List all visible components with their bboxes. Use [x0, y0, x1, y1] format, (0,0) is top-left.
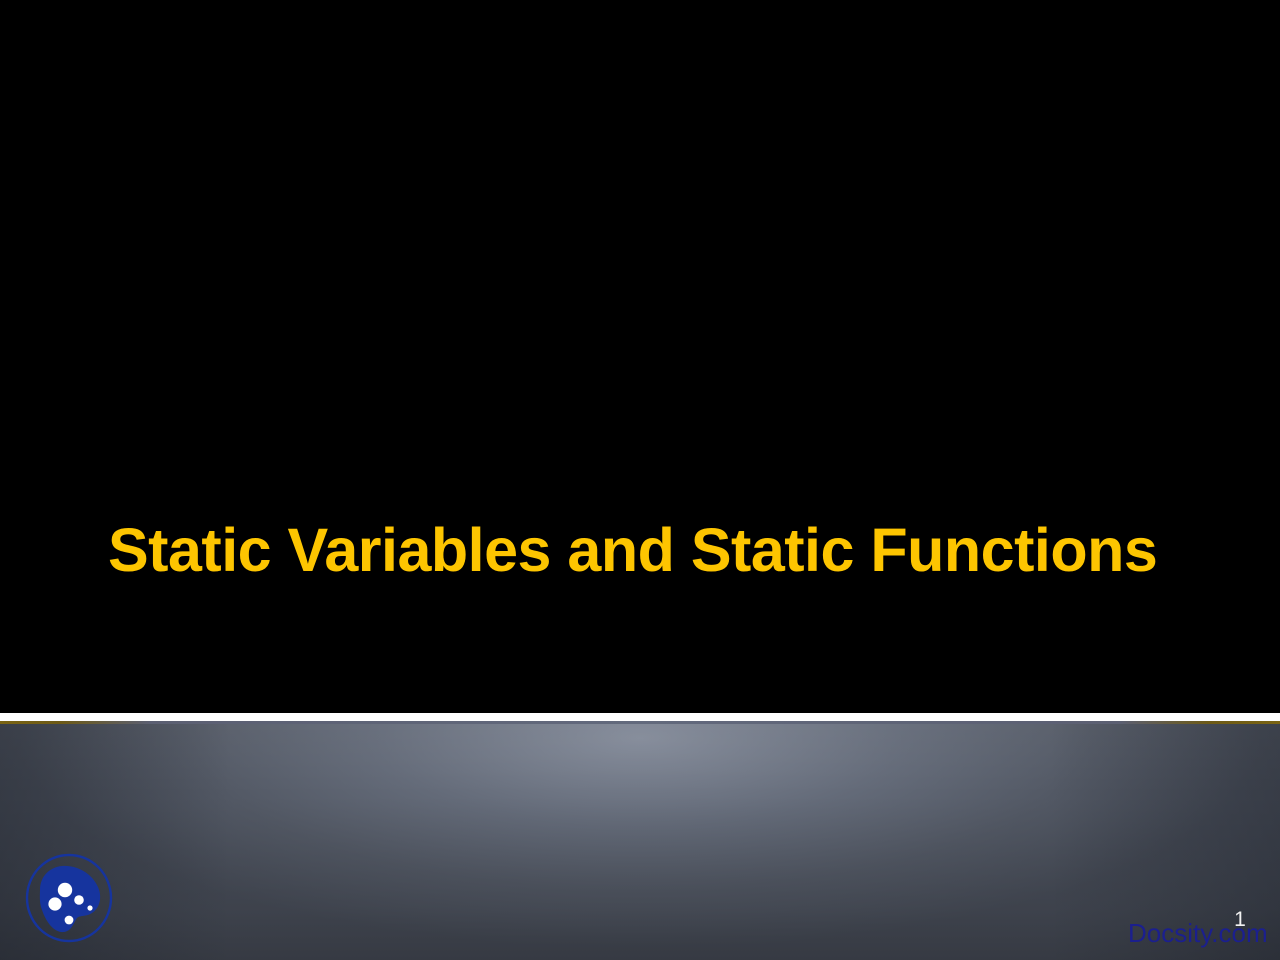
presentation-slide: Static Variables and Static Functions Do… [0, 0, 1280, 960]
footer-vignette [0, 724, 1280, 960]
docsity-logo-icon [24, 852, 114, 944]
slide-title: Static Variables and Static Functions [108, 514, 1178, 586]
slide-content-area: Static Variables and Static Functions [0, 0, 1280, 713]
separator-band [0, 713, 1280, 721]
slide-footer [0, 724, 1280, 960]
slide-page-number: 1 [1230, 908, 1250, 932]
